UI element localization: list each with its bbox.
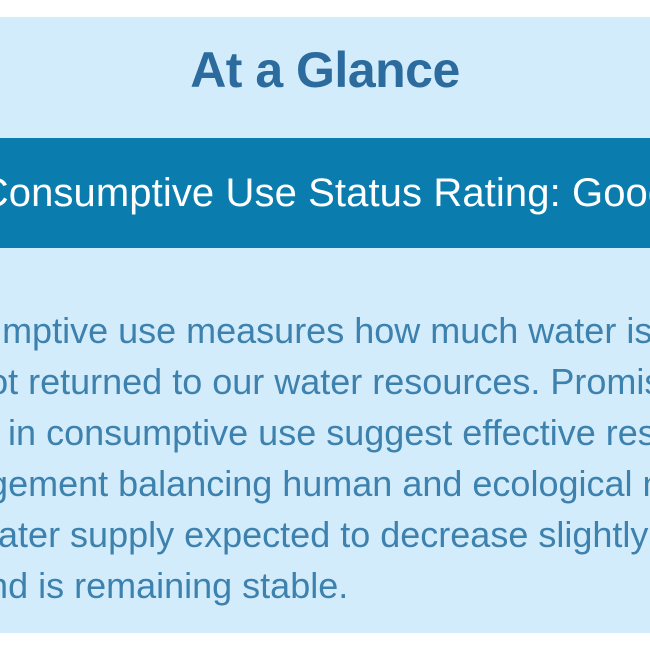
status-banner: Consumptive Use Status Rating: Good (0, 138, 650, 248)
at-a-glance-card: At a Glance Consumptive Use Status Ratin… (0, 17, 650, 633)
page-viewport: At a Glance Consumptive Use Status Ratin… (0, 0, 650, 650)
card-body-text: Consumptive use measures how much water … (0, 248, 650, 611)
page-title: At a Glance (0, 17, 650, 95)
status-badge: Consumptive Use Status Rating: Good (0, 171, 650, 215)
